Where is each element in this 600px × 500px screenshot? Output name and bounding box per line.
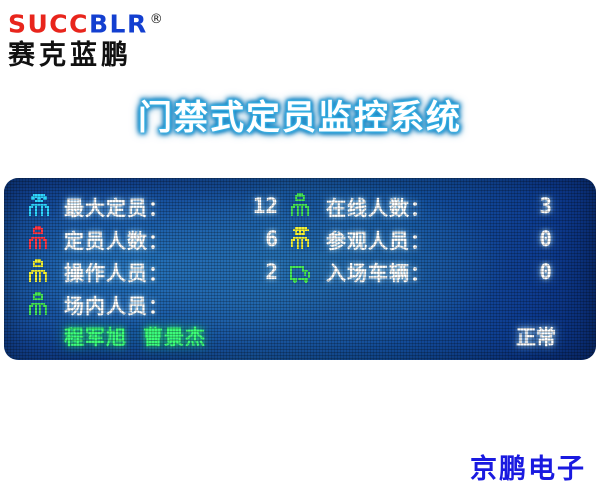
- led-value-registered-count: 6: [228, 227, 284, 251]
- footer-company-logo: 京鹏电子: [470, 447, 586, 486]
- brand-wordmark-blue: BLR: [89, 9, 148, 38]
- led-label-vehicle-count: 入场车辆：: [326, 257, 494, 286]
- onsite-name-2: 曹景杰: [143, 325, 206, 349]
- brand-wordmark: SUCCBLR®: [8, 6, 218, 38]
- led-value-vehicle-count: 0: [498, 260, 558, 284]
- person-icon: [26, 258, 60, 286]
- truck-icon: [288, 258, 322, 286]
- person-icon: [26, 291, 60, 319]
- brand-logo: SUCCBLR® 赛克蓝鹏: [8, 6, 218, 72]
- status-badge: 正常: [498, 321, 558, 350]
- led-value-operator-count: 2: [228, 260, 284, 284]
- led-value-max-capacity: 12: [228, 194, 284, 218]
- brand-wordmark-red: SUCC: [8, 9, 89, 38]
- registered-trademark-icon: ®: [150, 12, 165, 27]
- person-visitor-icon: [288, 225, 322, 253]
- led-label-online-count: 在线人数：: [326, 192, 494, 221]
- led-label-operator-count: 操作人员：: [64, 257, 224, 286]
- led-value-visitor-count: 0: [498, 227, 558, 251]
- led-onsite-names: 程军旭曹景杰: [64, 321, 494, 350]
- person-icon: [26, 225, 60, 253]
- led-label-registered-count: 定员人数：: [64, 225, 224, 254]
- led-value-online-count: 3: [498, 194, 558, 218]
- led-display-panel: 最大定员： 12 在线人数： 3: [4, 178, 596, 360]
- person-helmet-icon: [26, 192, 60, 220]
- onsite-name-1: 程军旭: [64, 325, 127, 349]
- page-title: 门禁式定员监控系统: [0, 90, 600, 139]
- led-readout-grid: 最大定员： 12 在线人数： 3: [4, 178, 596, 360]
- led-label-onsite-personnel: 场内人员：: [64, 290, 224, 319]
- person-icon: [288, 192, 322, 220]
- led-label-max-capacity: 最大定员：: [64, 192, 224, 221]
- led-label-visitor-count: 参观人员：: [326, 225, 494, 254]
- brand-chinese-name: 赛克蓝鹏: [8, 39, 218, 73]
